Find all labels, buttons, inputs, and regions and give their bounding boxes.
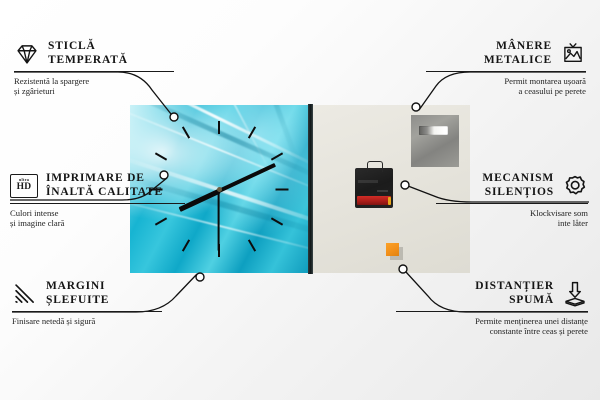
connector-endpoint-foam-spacer [399,265,407,273]
feature-desc-line1: Culori intense [10,208,185,218]
feature-divider [426,71,586,72]
feature-polished-edges: MARGINI ȘLEFUITE Finisare netedă și sigu… [12,280,162,326]
feature-desc-line2: și zgârieturi [14,86,174,96]
wall-hanger-icon [560,41,586,67]
feature-desc-line1: Finisare netedă și sigură [12,316,162,326]
feature-foam-spacer: DISTANȚIER SPUMĂ Permite menținerea unei… [396,280,588,337]
feature-tempered-glass: STICLĂ TEMPERATĂ Rezistentă la spargere … [14,40,174,97]
feature-desc-line1: Rezistentă la spargere [14,76,174,86]
feature-divider [436,203,588,204]
feature-desc-line2: constante între ceas și perete [396,326,588,336]
beveled-edges-icon [12,281,38,307]
ultra-hd-icon: ultra HD [10,174,38,198]
feature-title-line2: METALICE [484,54,552,68]
feature-title-line1: MECANISM [482,172,554,186]
feature-silent-mechanism: MECANISM SILENȚIOS Klockvisare som inte … [436,172,588,229]
gear-icon [562,173,588,199]
feature-divider [14,71,174,72]
feature-desc-line1: Permite menținerea unei distanțe [396,316,588,326]
feature-heading: MARGINI ȘLEFUITE [12,280,162,307]
feature-title-line1: IMPRIMARE DE [46,172,163,186]
feature-desc-line2: și imagine clară [10,218,185,228]
connector-endpoint-silent-mech [401,181,409,189]
feature-heading: MÂNERE METALICE [426,40,586,67]
feature-title-line2: SPUMĂ [396,294,554,308]
diamond-icon [14,41,40,67]
feature-title-line2: ÎNALTĂ CALITATE [46,186,163,200]
feature-heading: STICLĂ TEMPERATĂ [14,40,174,67]
feature-heading: ultra HD IMPRIMARE DE ÎNALTĂ CALITATE [10,172,185,199]
feature-desc-line2: inte låter [436,218,588,228]
feature-heading: DISTANȚIER SPUMĂ [396,280,588,307]
press-down-icon [562,281,588,307]
connector-endpoint-metal-handles [412,103,420,111]
feature-title-line2: SILENȚIOS [482,186,554,200]
feature-desc-line1: Permit montarea ușoară [426,76,586,86]
feature-divider [12,311,162,312]
feature-title-line2: ȘLEFUITE [46,294,109,308]
feature-divider [10,203,185,204]
feature-heading: MECANISM SILENȚIOS [436,172,588,199]
feature-title-line1: MARGINI [46,280,109,294]
infographic-canvas: STICLĂ TEMPERATĂ Rezistentă la spargere … [0,0,600,400]
feature-metal-handles: MÂNERE METALICE Permit montarea ușoară a… [426,40,586,97]
feature-title-line1: STICLĂ [48,40,128,54]
feature-title-line1: DISTANȚIER [396,280,554,294]
connector-endpoint-tempered-glass [170,113,178,121]
feature-print-quality: ultra HD IMPRIMARE DE ÎNALTĂ CALITATE Cu… [10,172,185,229]
feature-desc-line2: a ceasului pe perete [426,86,586,96]
feature-desc-line1: Klockvisare som [436,208,588,218]
connector-endpoint-polished-edges [196,273,204,281]
feature-title-line1: MÂNERE [484,40,552,54]
feature-divider [396,311,588,312]
feature-title-line2: TEMPERATĂ [48,54,128,68]
ultra-hd-large-label: HD [17,183,32,193]
